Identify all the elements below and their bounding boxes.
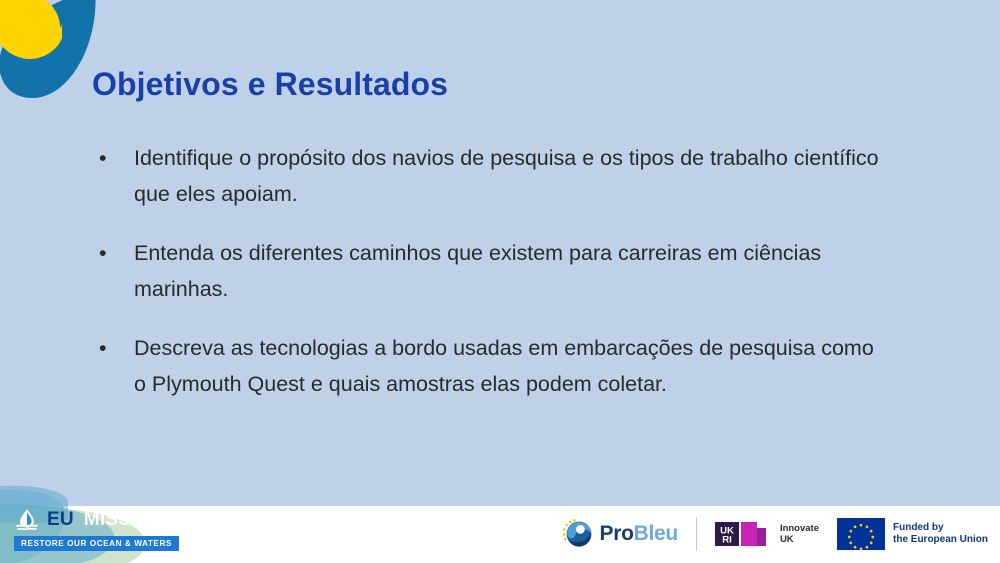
- probleu-name-part2: Bleu: [634, 522, 678, 545]
- slide-title: Objetivos e Resultados: [92, 66, 448, 103]
- footer-logo-strip: ProBleu UK RI Innovate UK: [560, 513, 988, 555]
- probleu-swirl-icon: [560, 517, 594, 551]
- bullet-marker-icon: •: [99, 330, 113, 366]
- bullet-marker-icon: •: [99, 140, 113, 176]
- ukri-blocks-icon: UK RI: [715, 518, 773, 550]
- eu-missions-tagline: RESTORE OUR OCEAN & WATERS: [14, 536, 179, 551]
- eu-flag-icon: [837, 518, 885, 550]
- probleu-name-part1: Pro: [600, 522, 634, 545]
- probleu-logo: ProBleu: [560, 517, 678, 551]
- ukri-innovate-uk-logo: UK RI Innovate UK: [715, 518, 819, 550]
- bullet-marker-icon: •: [99, 235, 113, 271]
- objectives-bullet-list: • Identifique o propósito dos navios de …: [96, 140, 886, 402]
- bullet-text: Identifique o propósito dos navios de pe…: [134, 140, 886, 212]
- probleu-wordmark: ProBleu: [600, 522, 678, 546]
- bullet-text: Entenda os diferentes caminhos que exist…: [134, 235, 886, 307]
- eu-missions-eu-label: EU: [47, 509, 74, 531]
- slide-corner-emblem-icon: [0, 0, 105, 105]
- bullet-item: • Identifique o propósito dos navios de …: [96, 140, 886, 212]
- funded-by-eu-label: Funded by the European Union: [893, 522, 988, 547]
- innovate-uk-line2: UK: [780, 534, 819, 546]
- eu-missions-wordmark: EU MISSIONS: [14, 507, 214, 533]
- water-drop-waves-icon: [14, 507, 40, 533]
- funded-by-line1: Funded by: [893, 522, 988, 535]
- svg-text:RI: RI: [722, 535, 732, 546]
- presentation-slide: Objetivos e Resultados • Identifique o p…: [0, 0, 1000, 563]
- innovate-uk-line1: Innovate: [780, 523, 819, 535]
- bullet-item: • Descreva as tecnologias a bordo usadas…: [96, 330, 886, 402]
- logo-divider: [696, 517, 697, 551]
- bullet-text: Descreva as tecnologias a bordo usadas e…: [134, 330, 886, 402]
- eu-missions-badge: EU MISSIONS RESTORE OUR OCEAN & WATERS: [0, 468, 230, 563]
- eu-missions-missions-label: MISSIONS: [84, 509, 179, 531]
- bullet-item: • Entenda os diferentes caminhos que exi…: [96, 235, 886, 307]
- innovate-uk-label: Innovate UK: [780, 523, 819, 546]
- funded-by-eu-logo: Funded by the European Union: [837, 518, 988, 550]
- funded-by-line2: the European Union: [893, 534, 988, 547]
- eu-missions-content: EU MISSIONS RESTORE OUR OCEAN & WATERS: [14, 507, 214, 551]
